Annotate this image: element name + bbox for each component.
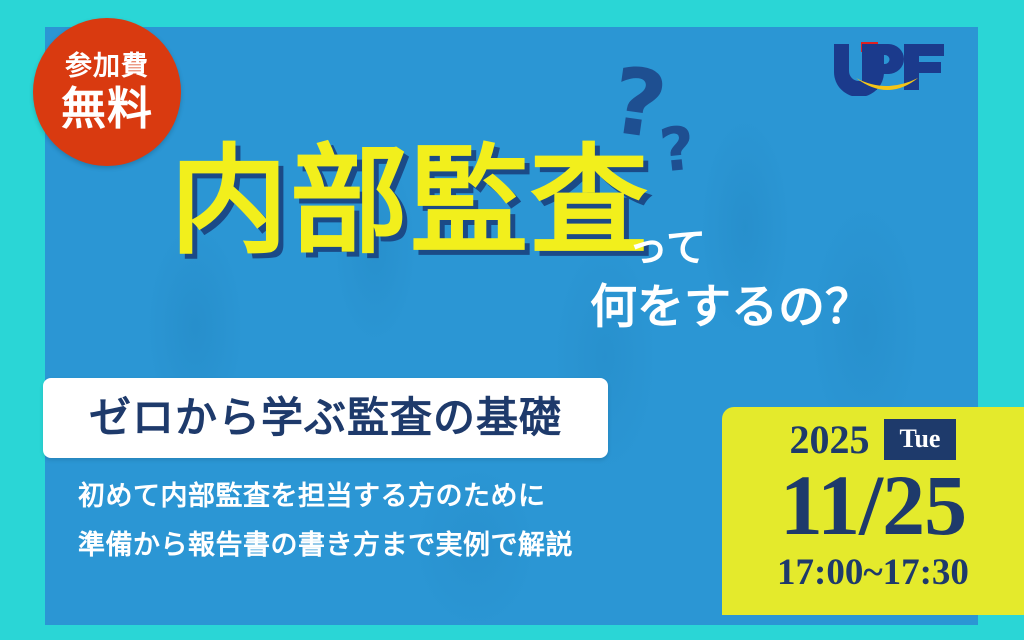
body-line-1: 初めて内部監査を担当する方のために	[78, 483, 573, 510]
question-mark-small-icon: ?	[657, 118, 698, 181]
headline-main: 内部監査	[170, 143, 650, 261]
date-panel: 2025 Tue 11/25 17:00~17:30	[722, 407, 1024, 615]
date-year-row: 2025 Tue	[790, 419, 957, 460]
event-time: 17:00~17:30	[777, 554, 969, 591]
webinar-banner: 参加費 無料 ? ? 内部監査 って 何をするの？ ゼロから学ぶ監査の基礎 初め…	[0, 0, 1024, 640]
highlight-box-text: ゼロから学ぶ監査の基礎	[89, 397, 562, 439]
free-participation-badge: 参加費 無料	[33, 18, 181, 166]
headline-suffix: って	[628, 228, 706, 268]
headline-question: 何をするの？	[590, 283, 872, 330]
fee-label: 参加費	[65, 53, 149, 80]
date-month-day: 11/25	[780, 462, 966, 548]
body-copy: 初めて内部監査を担当する方のために 準備から報告書の書き方まで実例で解説	[78, 483, 573, 581]
upf-logo	[826, 38, 956, 96]
date-year: 2025	[790, 420, 870, 460]
day-of-week-badge: Tue	[884, 419, 957, 460]
upf-logo-icon	[826, 38, 956, 96]
body-line-2: 準備から報告書の書き方まで実例で解説	[78, 532, 573, 559]
highlight-box: ゼロから学ぶ監査の基礎	[43, 378, 608, 458]
free-label: 無料	[61, 86, 153, 131]
